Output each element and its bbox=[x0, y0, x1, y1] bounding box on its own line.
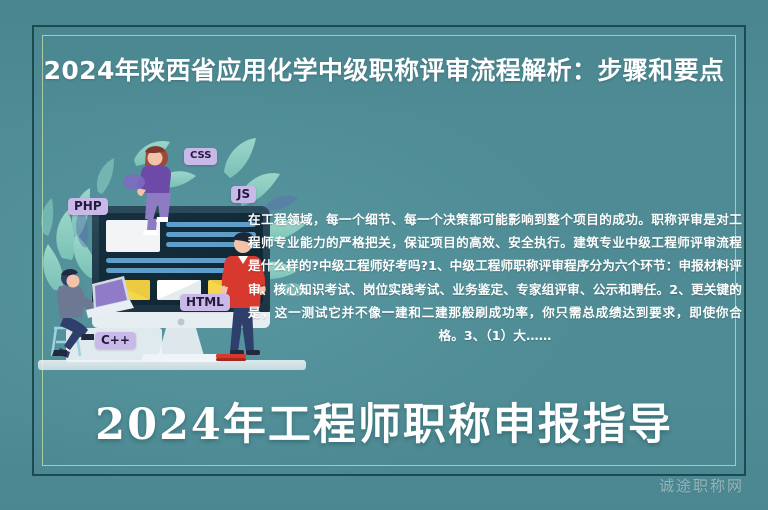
article-title: 2024年陕西省应用化学中级职称评审流程解析：步骤和要点 bbox=[42, 52, 726, 89]
code-chip-cpp: C++ bbox=[95, 332, 136, 349]
article-cover-image: CSS PHP JS HTML C++ 2024年陕西省应用化学中级职称评审流程… bbox=[0, 0, 768, 510]
code-chip-php: PHP bbox=[68, 198, 108, 215]
article-summary: 在工程领域，每一个细节、每一个决策都可能影响到整个项目的成功。职称评审是对工程师… bbox=[248, 208, 742, 347]
bottom-headline: 2024年工程师职称申报指导 bbox=[42, 398, 726, 452]
site-watermark: 诚途职称网 bbox=[659, 475, 744, 496]
code-chip-css: CSS bbox=[184, 148, 217, 165]
code-chip-js: JS bbox=[231, 186, 256, 203]
code-chip-html: HTML bbox=[180, 294, 230, 311]
